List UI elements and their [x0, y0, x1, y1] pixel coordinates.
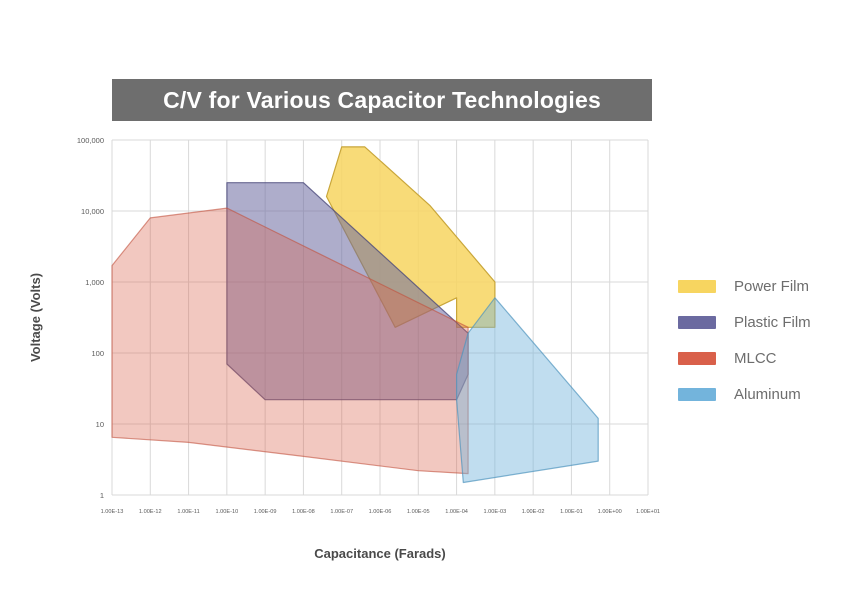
- legend-item-power-film[interactable]: Power Film: [678, 268, 858, 304]
- legend-label-mlcc: MLCC: [734, 350, 777, 367]
- x-tick-label: 1.00E-12: [139, 509, 162, 515]
- y-tick-label: 10,000: [81, 207, 104, 216]
- y-axis-title: Voltage (Volts): [28, 273, 43, 362]
- x-tick-label: 1.00E-08: [292, 509, 315, 515]
- legend-label-plastic-film: Plastic Film: [734, 314, 811, 331]
- x-tick-label: 1.00E-02: [522, 509, 545, 515]
- y-tick-label: 1,000: [85, 278, 104, 287]
- chart-plot-areas: [112, 147, 598, 483]
- legend-label-aluminum: Aluminum: [734, 386, 801, 403]
- y-tick-label: 10: [96, 420, 104, 429]
- x-axis-title: Capacitance (Farads): [314, 546, 446, 561]
- x-tick-label: 1.00E-04: [445, 509, 468, 515]
- x-tick-label: 1.00E+01: [636, 509, 660, 515]
- legend-swatch-aluminum: [678, 388, 716, 401]
- x-tick-label: 1.00E-09: [254, 509, 277, 515]
- x-tick-label: 1.00E-06: [369, 509, 392, 515]
- legend-swatch-plastic-film: [678, 316, 716, 329]
- legend-swatch-mlcc: [678, 352, 716, 365]
- x-tick-label: 1.00E-11: [177, 509, 199, 515]
- x-tick-label: 1.00E-07: [330, 509, 353, 515]
- y-tick-label: 100,000: [77, 136, 104, 145]
- x-tick-label: 1.00E-10: [216, 509, 239, 515]
- x-tick-label: 1.00E-01: [560, 509, 583, 515]
- chart-page: C/V for Various Capacitor Technologies 1…: [0, 0, 865, 606]
- chart-area-aluminum: [457, 298, 599, 483]
- y-axis-tick-labels: 100,00010,0001,000100101: [77, 136, 104, 500]
- legend-label-power-film: Power Film: [734, 278, 809, 295]
- x-tick-label: 1.00E-05: [407, 509, 430, 515]
- x-tick-label: 1.00E+00: [598, 509, 622, 515]
- y-tick-label: 1: [100, 491, 104, 500]
- legend-item-mlcc[interactable]: MLCC: [678, 340, 858, 376]
- y-tick-label: 100: [91, 349, 104, 358]
- legend-item-plastic-film[interactable]: Plastic Film: [678, 304, 858, 340]
- x-axis-tick-labels: 1.00E-131.00E-121.00E-111.00E-101.00E-09…: [101, 509, 660, 515]
- x-tick-label: 1.00E-13: [101, 509, 124, 515]
- x-tick-label: 1.00E-03: [484, 509, 507, 515]
- chart-legend: Power Film Plastic Film MLCC Aluminum: [678, 268, 858, 412]
- legend-item-aluminum[interactable]: Aluminum: [678, 376, 858, 412]
- legend-swatch-power-film: [678, 280, 716, 293]
